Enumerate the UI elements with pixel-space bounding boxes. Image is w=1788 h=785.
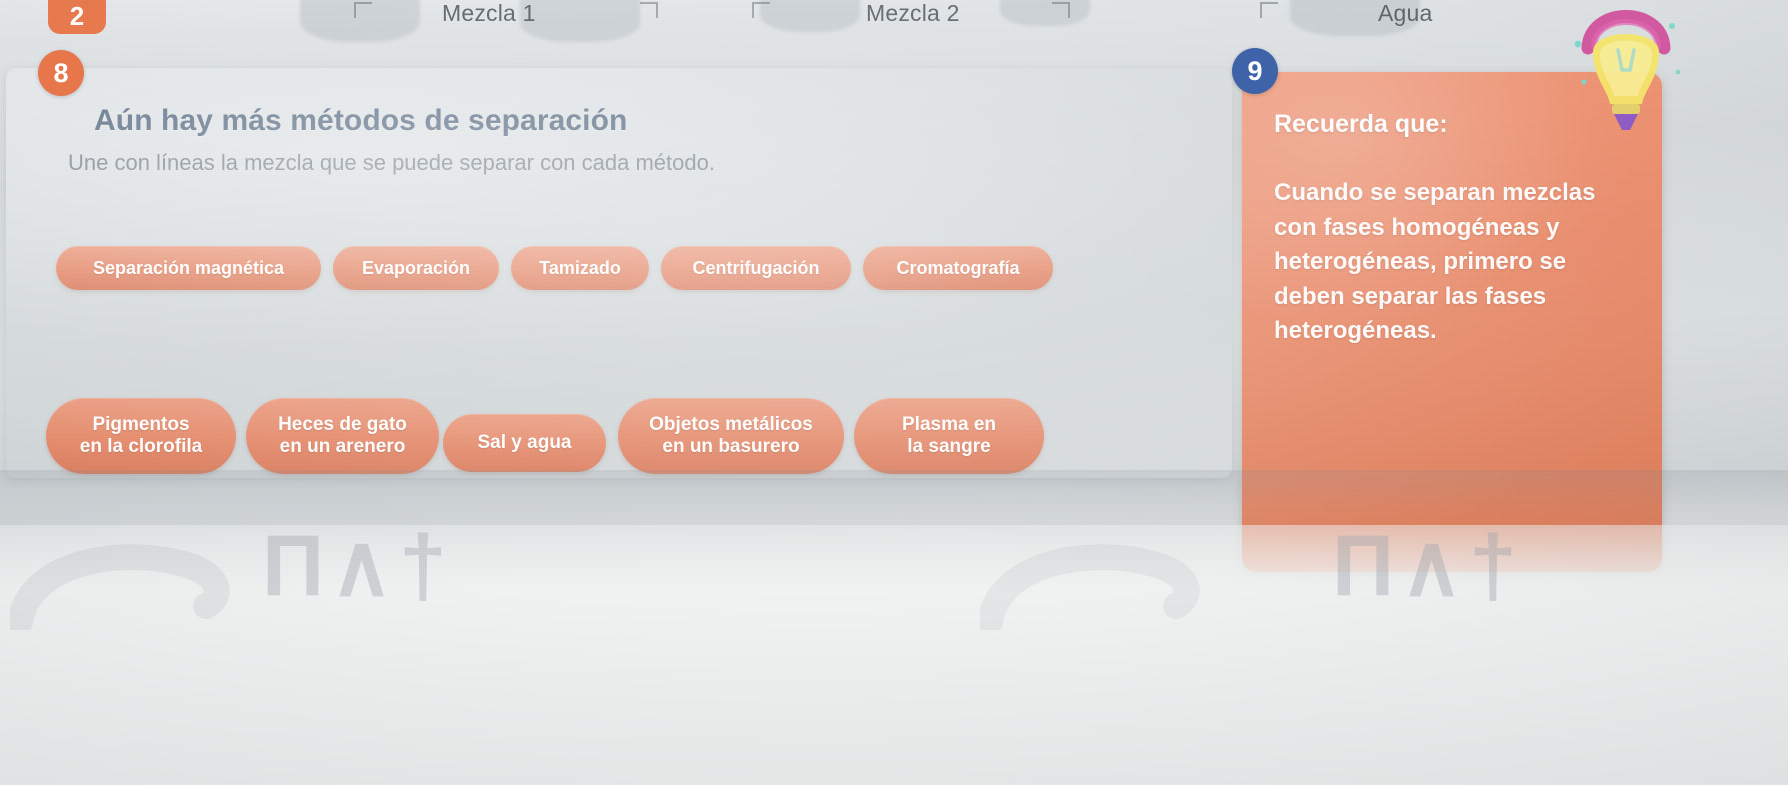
activity-9-card: Recuerda que: Cuando se separan mezclas …: [1242, 72, 1662, 572]
method-pill-evaporacion[interactable]: Evaporación: [333, 246, 499, 290]
mixture-line-2: en un arenero: [280, 436, 406, 458]
label-agua: Agua: [1378, 0, 1433, 27]
label-mezcla-2: Mezcla 2: [866, 0, 960, 27]
activity-8-number-badge: 8: [38, 50, 84, 96]
activity-9-number-badge: 9: [1232, 48, 1278, 94]
beaker-illustration-2: [520, 0, 640, 42]
method-pill-separacion-magnetica[interactable]: Separación magnética: [56, 246, 321, 290]
bracket-left-1: [354, 2, 372, 18]
mixture-pill-heces-gato[interactable]: Heces de gato en un arenero: [246, 398, 439, 474]
bracket-left-2: [752, 2, 770, 18]
mixture-line-1: Objetos metálicos: [649, 414, 813, 436]
previous-exercise-strip: 2 Mezcla 1 Mezcla 2 Agua: [0, 0, 1788, 46]
mixture-line-2: en un basurero: [662, 436, 799, 458]
method-pill-tamizado[interactable]: Tamizado: [511, 246, 649, 290]
mixture-line-1: Heces de gato: [278, 414, 407, 436]
activity-8-instruction: Une con líneas la mezcla que se puede se…: [68, 150, 715, 176]
method-pill-cromatografia[interactable]: Cromatografía: [863, 246, 1053, 290]
mixture-pill-sal-y-agua[interactable]: Sal y agua: [443, 414, 606, 472]
beaker-illustration-3: [760, 0, 860, 32]
bracket-right-1: [640, 2, 658, 18]
exercise-2-badge: 2: [48, 0, 106, 34]
mixture-pill-pigmentos-clorofila[interactable]: Pigmentos en la clorofila: [46, 398, 236, 474]
workbook-page: 2 Mezcla 1 Mezcla 2 Agua Aún hay más mét…: [0, 0, 1788, 785]
bracket-right-2: [1052, 2, 1070, 18]
mixture-line-2: en la clorofila: [80, 436, 202, 458]
activity-8-heading: Aún hay más métodos de separación: [94, 104, 627, 138]
mixture-line-1: Pigmentos: [92, 414, 189, 436]
mixture-pill-plasma-sangre[interactable]: Plasma en la sangre: [854, 398, 1044, 474]
beaker-illustration-4: [1000, 0, 1090, 26]
lower-sheet: [0, 525, 1788, 785]
bracket-left-3: [1260, 2, 1278, 18]
mixture-line-2: la sangre: [907, 436, 990, 458]
mixture-line-1: Plasma en: [902, 414, 996, 436]
activity-8-card: Aún hay más métodos de separación Une co…: [6, 68, 1232, 478]
mixture-pill-objetos-metalicos[interactable]: Objetos metálicos en un basurero: [618, 398, 844, 474]
activity-9-body: Cuando se separan mezclas con fases homo…: [1274, 176, 1624, 349]
label-mezcla-1: Mezcla 1: [442, 0, 536, 27]
method-pill-centrifugacion[interactable]: Centrifugación: [661, 246, 851, 290]
activity-9-title: Recuerda que:: [1274, 110, 1448, 139]
